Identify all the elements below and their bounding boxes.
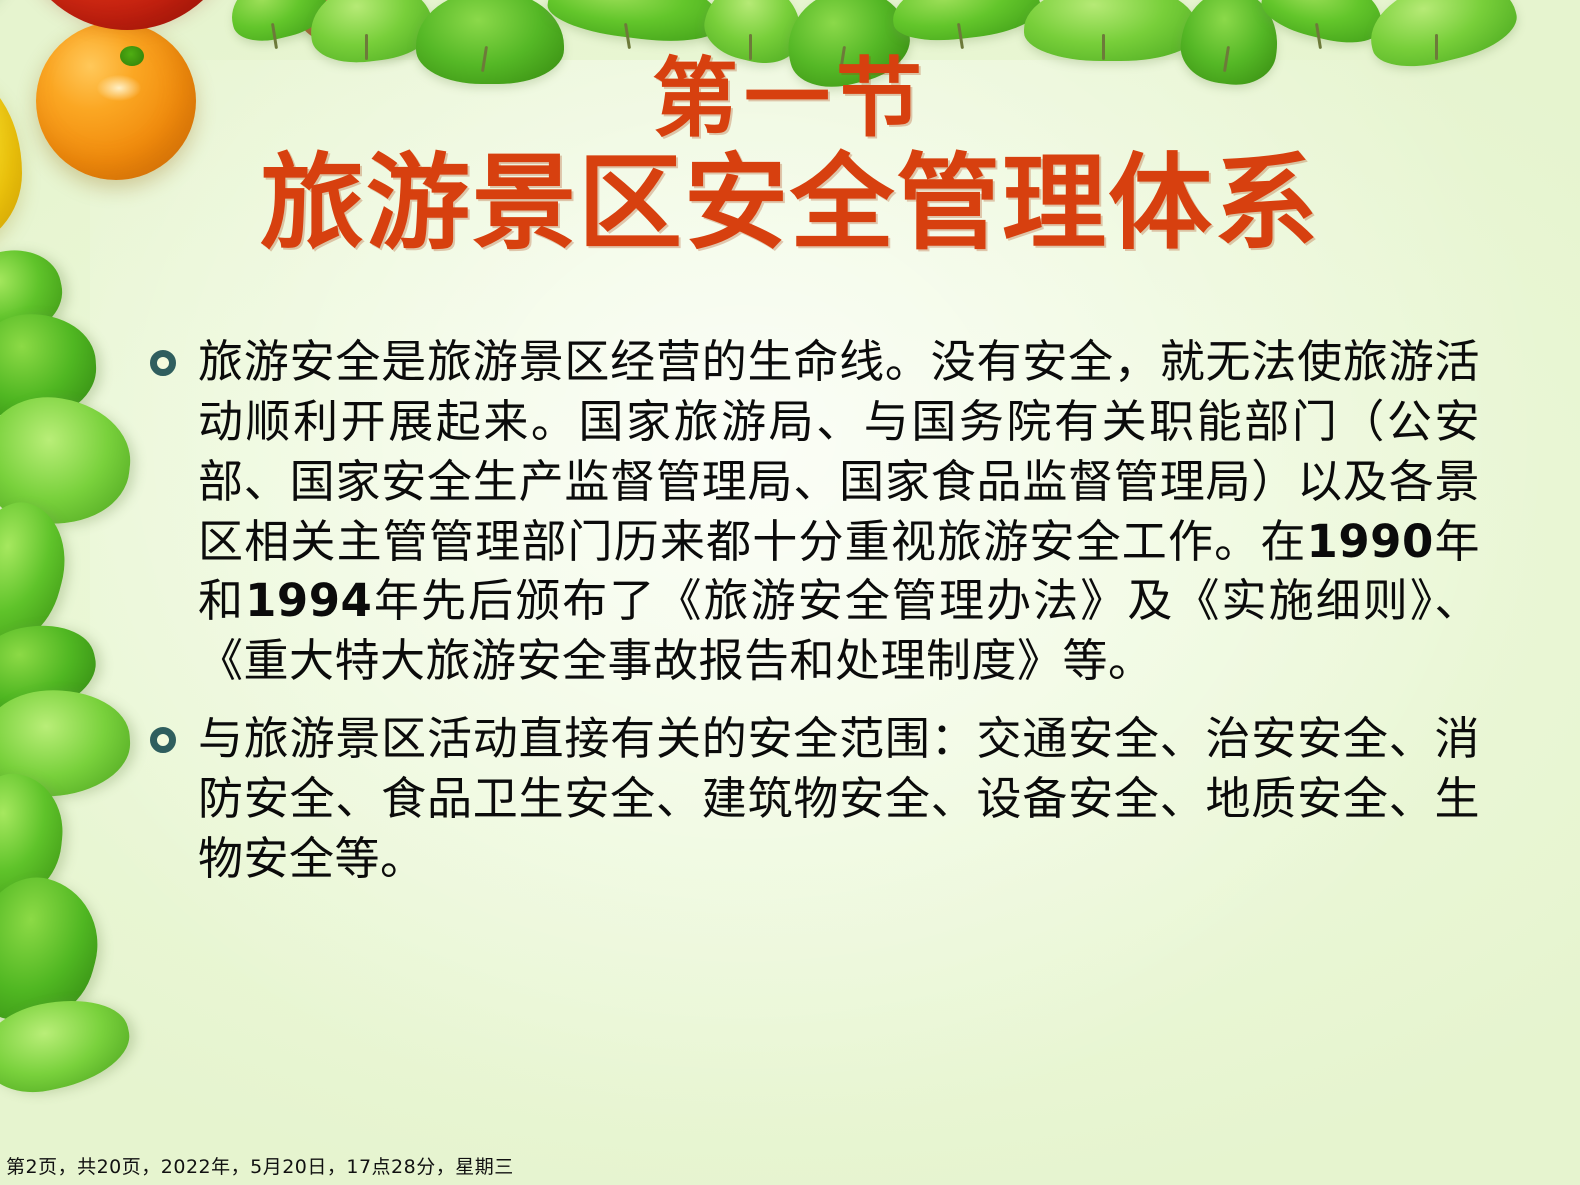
title-line-2: 旅游景区安全管理体系 — [0, 148, 1580, 258]
title-line-1: 第一节 — [0, 56, 1580, 144]
bullet-item: 旅游安全是旅游景区经营的生命线。没有安全，就无法使旅游活动顺利开展起来。国家旅游… — [150, 332, 1480, 691]
bullet-item: 与旅游景区活动直接有关的安全范围：交通安全、治安安全、消防安全、食品卫生安全、建… — [150, 709, 1480, 889]
leaf-icon — [545, 0, 725, 48]
slide-title: 第一节 旅游景区安全管理体系 — [0, 56, 1580, 258]
leaf-icon — [1024, 0, 1198, 61]
leaf-icon — [889, 0, 1043, 47]
bullet-text: 与旅游景区活动直接有关的安全范围：交通安全、治安安全、消防安全、食品卫生安全、建… — [198, 709, 1480, 889]
text-run: 旅游安全是旅游景区经营的生命线。没有安全，就无法使旅游活动顺利开展起来。国家旅游… — [198, 335, 1480, 568]
bold-year: 1994 — [245, 574, 372, 627]
text-run: 与旅游景区活动直接有关的安全范围：交通安全、治安安全、消防安全、食品卫生安全、建… — [198, 712, 1480, 885]
slide-body: 旅游安全是旅游景区经营的生命线。没有安全，就无法使旅游活动顺利开展起来。国家旅游… — [150, 332, 1480, 907]
bold-year: 1990 — [1307, 515, 1434, 568]
text-run: 年先后颁布了《旅游安全管理办法》及《实施细则》、《重大特大旅游安全事故报告和处理… — [198, 574, 1480, 687]
slide-footer: 第2页，共20页，2022年，5月20日，17点28分，星期三 — [6, 1152, 514, 1179]
top-leaf-border — [0, 0, 1580, 52]
presentation-slide: 第一节 旅游景区安全管理体系 旅游安全是旅游景区经营的生命线。没有安全，就无法使… — [0, 0, 1580, 1185]
bullet-text: 旅游安全是旅游景区经营的生命线。没有安全，就无法使旅游活动顺利开展起来。国家旅游… — [198, 332, 1480, 691]
hollow-circle-bullet-icon — [150, 727, 176, 753]
hollow-circle-bullet-icon — [150, 350, 176, 376]
